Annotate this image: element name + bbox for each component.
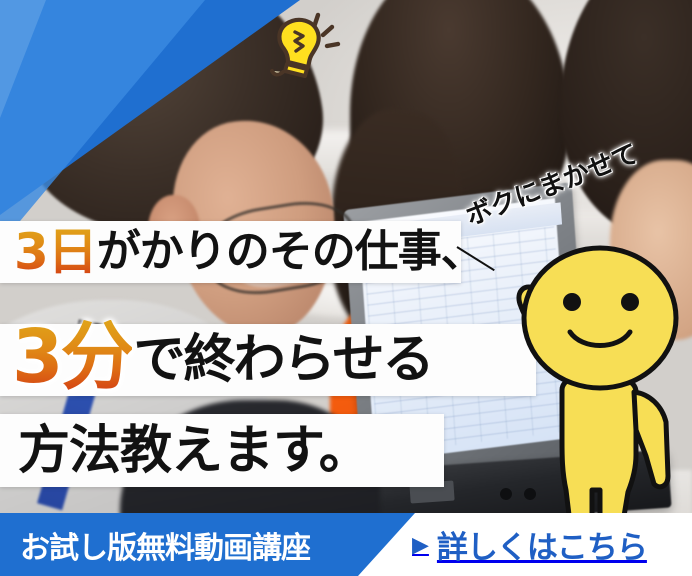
mascot-eye-left — [563, 293, 581, 311]
headline-text-3: 方法教えます。 — [18, 425, 370, 477]
cta-bar[interactable]: お試し版無料動画講座 ▶ 詳しくはこちら — [0, 513, 692, 576]
headline-band-1: 3日 がかりのその仕事、 — [0, 221, 461, 283]
cta-link-label: 詳しくはこちら — [437, 522, 647, 567]
headline-band-3: 方法教えます。 — [0, 414, 444, 487]
cta-details-link[interactable]: ▶ 詳しくはこちら — [412, 513, 647, 576]
headline-text-2: で終わらせる — [134, 334, 433, 386]
promo-banner[interactable]: 3日 がかりのその仕事、 3分 で終わらせる 方法教えます。 ボクにまかせて お… — [0, 0, 692, 576]
mascot-eye-right — [621, 293, 639, 311]
cta-badge-label: お試し版無料動画講座 — [0, 523, 310, 567]
headline-accent-2: 3分 — [12, 320, 132, 394]
play-triangle-icon: ▶ — [412, 534, 429, 556]
mascot-character — [496, 240, 692, 545]
cta-badge[interactable]: お試し版無料動画講座 — [0, 513, 415, 576]
headline-accent-1: 3日 — [14, 227, 97, 277]
headline-band-2: 3分 で終わらせる — [0, 324, 536, 396]
lightbulb-icon — [256, 6, 342, 84]
headline-text-1: がかりのその仕事、 — [97, 230, 484, 274]
